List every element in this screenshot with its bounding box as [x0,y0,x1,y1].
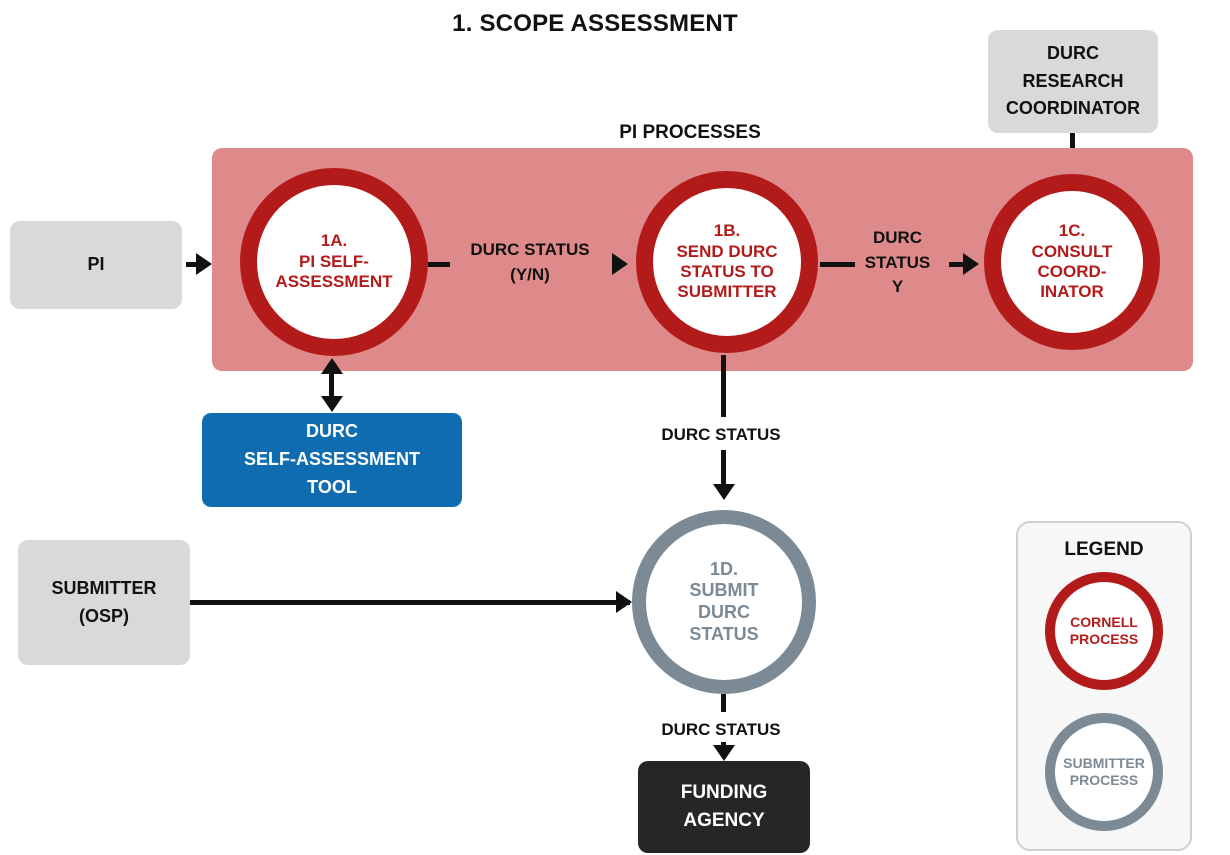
actor-label-line: (OSP) [52,603,157,631]
legend-swatch-submitter-process: SUBMITTER PROCESS [1045,713,1163,831]
arrowhead-1a-to-tool-down [321,396,343,412]
process-circle-1b[interactable]: 1B. SEND DURC STATUS TO SUBMITTER [636,171,818,353]
arrowhead-1a-to-1b [612,253,628,275]
diagram-canvas: 1. SCOPE ASSESSMENT DURC RESEARCH COORDI… [0,0,1230,855]
process-circle-1a[interactable]: 1A. PI SELF- ASSESSMENT [240,168,428,356]
process-label-line: INATOR [1032,282,1113,302]
process-label-line: PI SELF- [275,252,392,272]
connector-1b-to-1d-upper [721,355,726,417]
connector-1b-to-1d-lower [721,450,726,488]
process-label-line: 1D. [689,559,758,581]
tool-label-line: TOOL [244,474,420,502]
process-label-line: DURC [689,602,758,624]
edge-label-1a-to-1b: DURC STATUS (Y/N) [440,238,620,287]
process-circle-1d[interactable]: 1D. SUBMIT DURC STATUS [632,510,816,694]
tool-label-line: DURC [244,418,420,446]
tool-label-line: SELF-ASSESSMENT [244,446,420,474]
tool-box-durc-self-assessment[interactable]: DURC SELF-ASSESSMENT TOOL [202,413,462,507]
legend-label-line: PROCESS [1063,772,1145,789]
legend-label-line: PROCESS [1070,631,1138,648]
edge-label-1b-to-1c: DURC STATUS Y [845,226,950,300]
legend-title: LEGEND [1018,539,1190,561]
edge-label-line: DURC [845,226,950,251]
process-label-line: SEND DURC [676,242,777,262]
edge-label-line: Y [845,275,950,300]
edge-label-1b-to-1d: DURC STATUS [621,423,821,448]
process-circle-1c[interactable]: 1C. CONSULT COORD- INATOR [984,174,1160,350]
actor-label-line: FUNDING [681,779,768,808]
process-label-line: ASSESSMENT [275,272,392,292]
actor-label-line: RESEARCH [1006,68,1140,96]
legend: LEGEND CORNELL PROCESS SUBMITTER PROCESS [1016,521,1192,851]
process-label-line: CONSULT [1032,242,1113,262]
actor-label-line: DURC [1006,40,1140,68]
process-label-line: SUBMITTER [676,282,777,302]
arrowhead-1b-to-1c [963,253,979,275]
process-label-line: STATUS [689,624,758,646]
arrowhead-1d-to-agency [713,745,735,761]
arrowhead-submitter-to-1d [616,591,632,613]
actor-box-submitter: SUBMITTER (OSP) [18,540,190,665]
process-label-line: 1B. [676,221,777,241]
actor-label-line: COORDINATOR [1006,95,1140,123]
actor-box-durc-research-coordinator: DURC RESEARCH COORDINATOR [988,30,1158,133]
edge-label-line: STATUS [845,251,950,276]
edge-label-line: DURC STATUS [621,423,821,448]
process-label-line: 1C. [1032,221,1113,241]
arrowhead-1b-to-1d [713,484,735,500]
legend-label-line: SUBMITTER [1063,755,1145,772]
legend-label-line: CORNELL [1070,614,1138,631]
connector-1d-to-agency-upper [721,694,726,712]
process-label-line: 1A. [275,231,392,251]
process-label-line: COORD- [1032,262,1113,282]
actor-box-funding-agency: FUNDING AGENCY [638,761,810,853]
band-label-pi-processes: PI PROCESSES [490,122,890,144]
actor-label-line: SUBMITTER [52,575,157,603]
actor-label-line: AGENCY [681,807,768,836]
edge-label-line: DURC STATUS [440,238,620,263]
legend-swatch-cornell-process: CORNELL PROCESS [1045,572,1163,690]
edge-label-line: (Y/N) [440,263,620,288]
arrowhead-pi-to-1a [196,253,212,275]
process-label-line: SUBMIT [689,580,758,602]
actor-label-pi: PI [87,251,104,279]
process-label-line: STATUS TO [676,262,777,282]
actor-box-pi: PI [10,221,182,309]
edge-label-1d-to-agency: DURC STATUS [621,718,821,743]
edge-label-line: DURC STATUS [621,718,821,743]
connector-submitter-to-1d [190,600,630,605]
